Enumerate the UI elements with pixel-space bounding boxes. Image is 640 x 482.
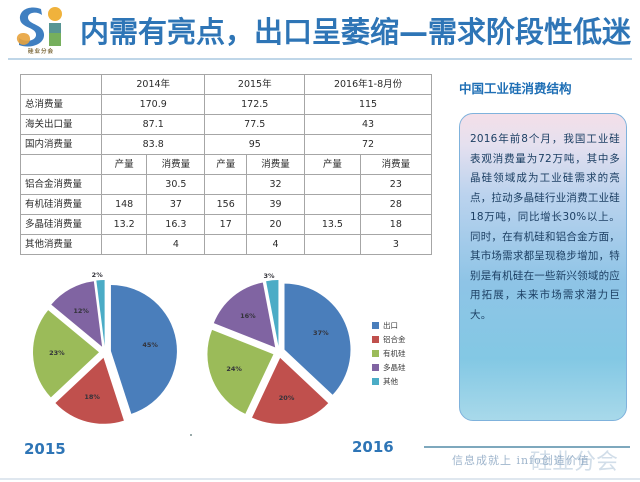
- subheader-consumption: 消费量: [247, 155, 305, 175]
- legend-item-有机硅: 有机硅: [372, 346, 406, 360]
- panel-title: 中国工业硅消费结构: [459, 78, 572, 97]
- pie-slice-出口: [111, 285, 177, 414]
- cell-value: 18: [360, 215, 431, 235]
- row-label: 总消费量: [21, 95, 102, 115]
- cell-value: [305, 175, 361, 195]
- cell-value: 32: [247, 175, 305, 195]
- legend-swatch-icon: [372, 378, 379, 385]
- cell-value: 115: [305, 95, 432, 115]
- cell-value: 72: [305, 135, 432, 155]
- table-row: 铝合金消费量 30.5 32 23: [21, 175, 432, 195]
- cell-value: 95: [205, 135, 305, 155]
- legend-swatch-icon: [372, 364, 379, 371]
- table-row: 总消费量 170.9 172.5 115: [21, 95, 432, 115]
- row-label: 多晶硅消费量: [21, 215, 102, 235]
- panel-body-text: 2016年前8个月，我国工业硅表观消费量为72万吨，其中多晶硅领域成为工业硅需求…: [470, 130, 620, 325]
- legend-item-铝合金: 铝合金: [372, 332, 406, 346]
- cell-value: [102, 175, 147, 195]
- pie-label-出口: 45%: [142, 341, 158, 349]
- site-logo: 硅业分会: [11, 3, 71, 55]
- legend-item-其他: 其他: [372, 374, 406, 388]
- table-col-2016: 2016年1-8月份: [305, 75, 432, 95]
- cell-value: 170.9: [102, 95, 205, 115]
- summary-panel: 2016年前8个月，我国工业硅表观消费量为72万吨，其中多晶硅领域成为工业硅需求…: [459, 113, 627, 421]
- cell-value: 3: [360, 235, 431, 255]
- cell-value: 37: [147, 195, 205, 215]
- legend-label: 有机硅: [383, 348, 406, 359]
- pie-label-多晶硅: 16%: [240, 312, 256, 320]
- stray-dot: [190, 434, 192, 436]
- pie-2016-svg: [192, 272, 367, 442]
- cell-value: 16.3: [147, 215, 205, 235]
- pie-chart-2016: 37%20%24%16%3%: [192, 272, 367, 442]
- page-header: 硅业分会 内需有亮点，出口呈萎缩—需求阶段性低迷: [0, 0, 640, 60]
- pie-label-其他: 3%: [264, 272, 275, 280]
- row-label: 其他消费量: [21, 235, 102, 255]
- subheader-production: 产量: [102, 155, 147, 175]
- table-col-2015: 2015年: [205, 75, 305, 95]
- cell-value: 4: [247, 235, 305, 255]
- legend-label: 铝合金: [383, 334, 406, 345]
- cell-value: 77.5: [205, 115, 305, 135]
- pie-chart-2015: 45%18%23%12%2%: [18, 272, 193, 442]
- pie-label-有机硅: 23%: [49, 349, 65, 357]
- table-row: 海关出口量 87.1 77.5 43: [21, 115, 432, 135]
- footer-watermark: 信息成就上 info创造价值: [452, 452, 632, 476]
- cell-value: 17: [205, 215, 247, 235]
- cell-value: 156: [205, 195, 247, 215]
- pie-label-出口: 37%: [313, 329, 329, 337]
- legend-label: 其他: [383, 376, 398, 387]
- pie-label-铝合金: 20%: [279, 394, 295, 402]
- subheader-production: 产量: [205, 155, 247, 175]
- header-divider: [8, 58, 632, 60]
- cell-value: [102, 235, 147, 255]
- year-caption-2015: 2015: [24, 440, 66, 458]
- subheader-consumption: 消费量: [360, 155, 431, 175]
- cell-value: 23: [360, 175, 431, 195]
- legend-swatch-icon: [372, 350, 379, 357]
- cell-value: 43: [305, 115, 432, 135]
- table-row: 多晶硅消费量 13.2 16.3 17 20 13.5 18: [21, 215, 432, 235]
- cell-value: 172.5: [205, 95, 305, 115]
- subheader-production: 产量: [305, 155, 361, 175]
- subheader-consumption: 消费量: [147, 155, 205, 175]
- table-subheader-row: 产量 消费量 产量 消费量 产量 消费量: [21, 155, 432, 175]
- legend-label: 出口: [383, 320, 398, 331]
- cell-value: 20: [247, 215, 305, 235]
- subheader-corner: [21, 155, 102, 175]
- cell-value: [305, 195, 361, 215]
- cell-value: 28: [360, 195, 431, 215]
- pie-label-多晶硅: 12%: [73, 307, 89, 315]
- table-header-row: 2014年 2015年 2016年1-8月份: [21, 75, 432, 95]
- cell-value: 83.8: [102, 135, 205, 155]
- cell-value: 30.5: [147, 175, 205, 195]
- cell-value: 148: [102, 195, 147, 215]
- row-label: 海关出口量: [21, 115, 102, 135]
- pie-label-其他: 2%: [92, 271, 103, 279]
- year-caption-2016: 2016: [352, 438, 394, 456]
- legend-label: 多晶硅: [383, 362, 406, 373]
- table-col-2014: 2014年: [102, 75, 205, 95]
- logo-subtitle: 硅业分会: [11, 47, 71, 55]
- cell-value: [205, 175, 247, 195]
- legend-item-多晶硅: 多晶硅: [372, 360, 406, 374]
- cell-value: [305, 235, 361, 255]
- row-label: 国内消费量: [21, 135, 102, 155]
- cell-value: 13.5: [305, 215, 361, 235]
- pie-label-有机硅: 24%: [226, 365, 242, 373]
- pie-label-铝合金: 18%: [84, 393, 100, 401]
- bottom-divider: [0, 478, 640, 480]
- cell-value: [205, 235, 247, 255]
- table-row: 有机硅消费量 148 37 156 39 28: [21, 195, 432, 215]
- table-row: 国内消费量 83.8 95 72: [21, 135, 432, 155]
- legend-item-出口: 出口: [372, 318, 406, 332]
- row-label: 铝合金消费量: [21, 175, 102, 195]
- cell-value: 39: [247, 195, 305, 215]
- table-row: 其他消费量 4 4 3: [21, 235, 432, 255]
- page-title: 内需有亮点，出口呈萎缩—需求阶段性低迷: [80, 9, 631, 51]
- legend-swatch-icon: [372, 336, 379, 343]
- legend-swatch-icon: [372, 322, 379, 329]
- cell-value: 87.1: [102, 115, 205, 135]
- cell-value: 4: [147, 235, 205, 255]
- table-corner-cell: [21, 75, 102, 95]
- row-label: 有机硅消费量: [21, 195, 102, 215]
- logo-icon: [11, 3, 71, 49]
- chart-legend: 出口铝合金有机硅多晶硅其他: [372, 318, 406, 388]
- pie-2015-svg: [18, 272, 193, 442]
- cell-value: 13.2: [102, 215, 147, 235]
- consumption-table: 2014年 2015年 2016年1-8月份 总消费量 170.9 172.5 …: [20, 74, 432, 255]
